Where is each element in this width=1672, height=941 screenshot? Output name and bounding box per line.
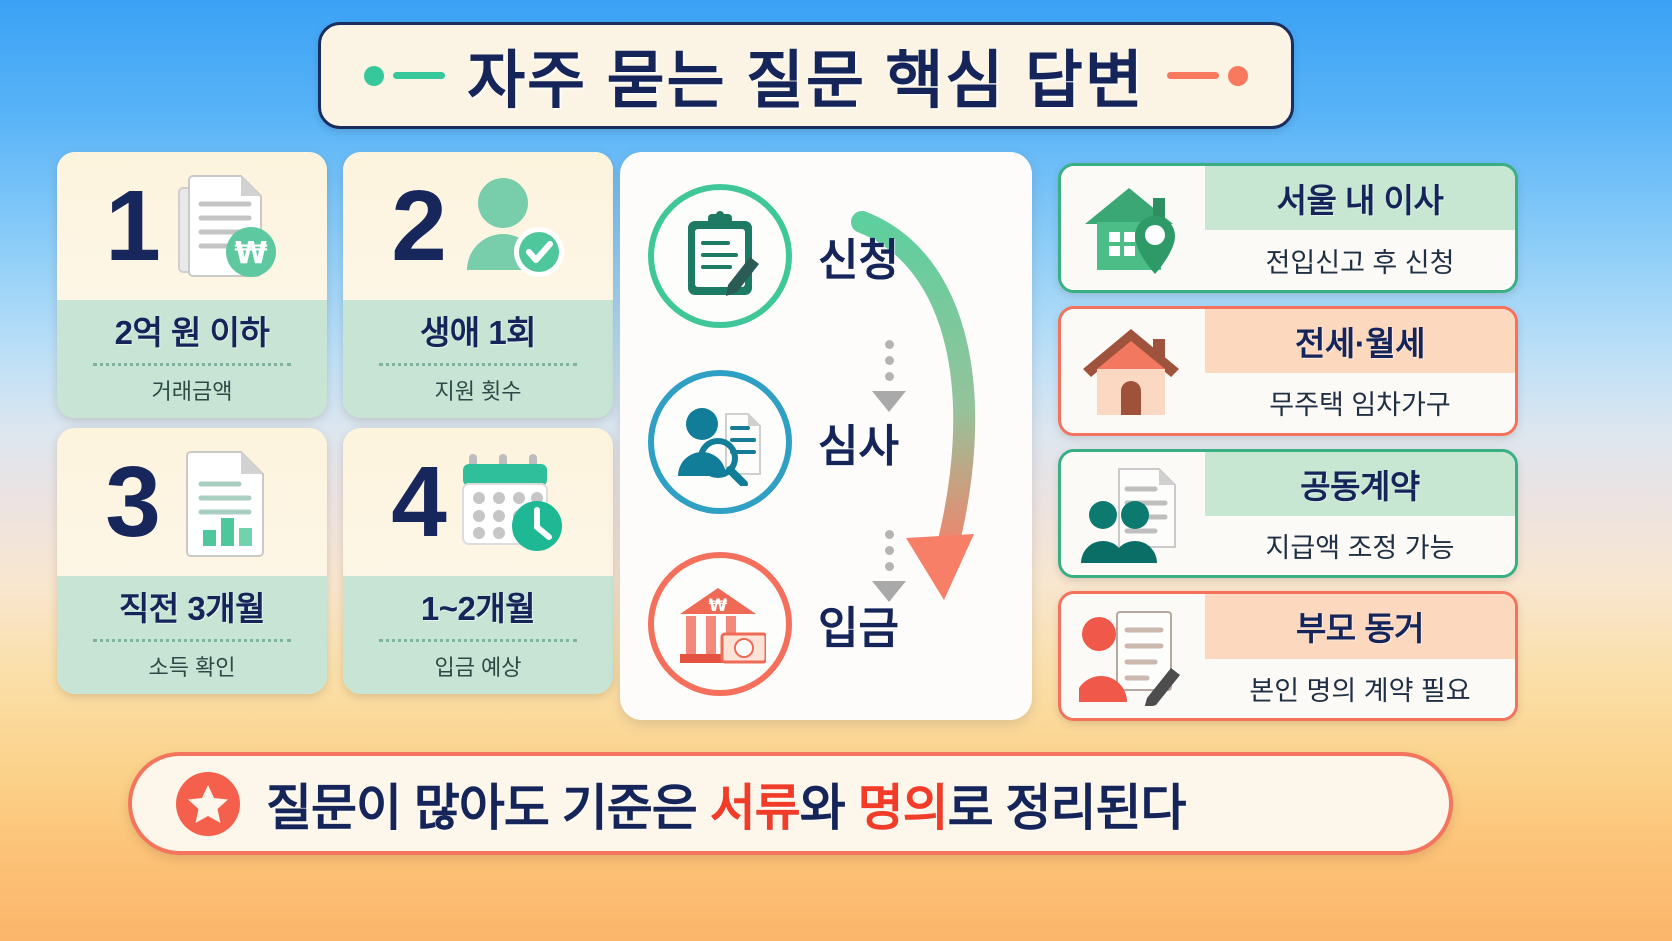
numbered-card: 3 직전 3개월 소득 확인: [57, 428, 327, 694]
house-pin-icon: [1061, 166, 1205, 290]
card-headline: 직전 3개월: [119, 582, 265, 630]
info-card-sub: 본인 명의 계약 필요: [1205, 659, 1515, 718]
numbered-card: 2 생애 1회 지원 횟수: [343, 152, 613, 418]
card-sublabel: 입금 예상: [434, 650, 521, 682]
info-card-head: 전세·월세: [1205, 309, 1515, 373]
banner-part-1: 질문이 많아도 기준은: [266, 780, 710, 836]
card-bottom: 1~2개월 입금 예상: [343, 576, 613, 694]
flow-step-payment: ₩ 입금: [648, 552, 899, 696]
info-card: 부모 동거 본인 명의 계약 필요: [1058, 591, 1518, 721]
coral-line-icon: [1167, 72, 1219, 79]
numbered-card: 1 ₩ 2억 원 이하 거래금액: [57, 152, 327, 418]
clipboard-pencil-icon: [648, 184, 792, 328]
info-card-body: 전세·월세 무주택 임차가구: [1205, 309, 1515, 433]
info-card: 서울 내 이사 전입신고 후 신청: [1058, 163, 1518, 293]
card-bottom: 생애 1회 지원 횟수: [343, 300, 613, 418]
divider: [379, 363, 577, 366]
banner-part-3: 로 정리된다: [948, 780, 1186, 836]
banner-highlight-1: 서류: [710, 780, 800, 836]
info-card-sub: 전입신고 후 신청: [1205, 230, 1515, 289]
info-card-body: 서울 내 이사 전입신고 후 신청: [1205, 166, 1515, 290]
card-top: 2: [343, 152, 613, 300]
card-headline: 1~2개월: [421, 582, 535, 630]
person-check-icon: [457, 170, 565, 282]
card-headline: 생애 1회: [420, 306, 536, 354]
process-flow-panel: 신청 심사: [620, 152, 1032, 720]
divider: [379, 639, 577, 642]
divider: [93, 363, 291, 366]
info-card-body: 부모 동거 본인 명의 계약 필요: [1205, 594, 1515, 718]
two-people-doc-icon: [1061, 452, 1205, 576]
connector-dot-icon: [885, 356, 894, 365]
card-top: 3: [57, 428, 327, 576]
card-number: 4: [391, 457, 447, 547]
info-card-sub: 무주택 임차가구: [1205, 373, 1515, 432]
info-card: 전세·월세 무주택 임차가구: [1058, 306, 1518, 436]
divider: [93, 639, 291, 642]
card-sublabel: 지원 횟수: [434, 374, 521, 406]
flow-step-review: 심사: [648, 370, 899, 514]
flow-step-application: 신청: [648, 184, 899, 328]
summary-banner: 질문이 많아도 기준은 서류와 명의로 정리된다: [128, 752, 1453, 855]
green-line-icon: [393, 72, 445, 79]
info-card-sub: 지급액 조정 가능: [1205, 516, 1515, 575]
info-card: 공동계약 지급액 조정 가능: [1058, 449, 1518, 579]
summary-banner-text: 질문이 많아도 기준은 서류와 명의로 정리된다: [266, 768, 1186, 840]
card-number: 3: [105, 457, 161, 547]
bank-money-icon: ₩: [648, 552, 792, 696]
svg-text:₩: ₩: [234, 236, 267, 271]
card-top: 4: [343, 428, 613, 576]
document-won-icon: ₩: [171, 170, 279, 282]
connector-dot-icon: [885, 530, 894, 539]
person-document-magnifier-icon: [648, 370, 792, 514]
page-title-banner: 자주 묻는 질문 핵심 답변: [318, 22, 1294, 129]
title-left-decoration: [364, 66, 445, 86]
info-card-head: 공동계약: [1205, 452, 1515, 516]
green-dot-icon: [364, 66, 384, 86]
person-signing-icon: [1061, 594, 1205, 718]
card-sublabel: 거래금액: [152, 374, 233, 406]
card-number: 1: [105, 181, 161, 271]
title-right-decoration: [1167, 66, 1248, 86]
house-roof-icon: [1061, 309, 1205, 433]
flow-step-label: 입금: [818, 592, 899, 656]
info-card-head: 부모 동거: [1205, 594, 1515, 658]
banner-highlight-2: 명의: [858, 780, 948, 836]
banner-part-2: 와: [800, 780, 858, 836]
numbered-criteria-cards: 1 ₩ 2억 원 이하 거래금액: [57, 152, 607, 720]
card-number: 2: [391, 181, 447, 271]
info-card-head: 서울 내 이사: [1205, 166, 1515, 230]
card-bottom: 직전 3개월 소득 확인: [57, 576, 327, 694]
star-icon: [176, 772, 240, 836]
numbered-card: 4 1~2개월: [343, 428, 613, 694]
card-sublabel: 소득 확인: [148, 650, 235, 682]
flow-step-label: 심사: [818, 410, 899, 474]
page-title: 자주 묻는 질문 핵심 답변: [467, 30, 1145, 121]
faq-info-cards: 서울 내 이사 전입신고 후 신청 전세·월세 무주택 임차가구: [1058, 163, 1518, 721]
info-card-body: 공동계약 지급액 조정 가능: [1205, 452, 1515, 576]
coral-dot-icon: [1228, 66, 1248, 86]
connector-dot-icon: [885, 340, 894, 349]
card-headline: 2억 원 이하: [115, 306, 270, 354]
flow-step-label: 신청: [818, 224, 899, 288]
calendar-clock-icon: [457, 446, 565, 558]
svg-text:₩: ₩: [709, 596, 728, 616]
card-top: 1 ₩: [57, 152, 327, 300]
card-bottom: 2억 원 이하 거래금액: [57, 300, 327, 418]
document-chart-icon: [171, 446, 279, 558]
